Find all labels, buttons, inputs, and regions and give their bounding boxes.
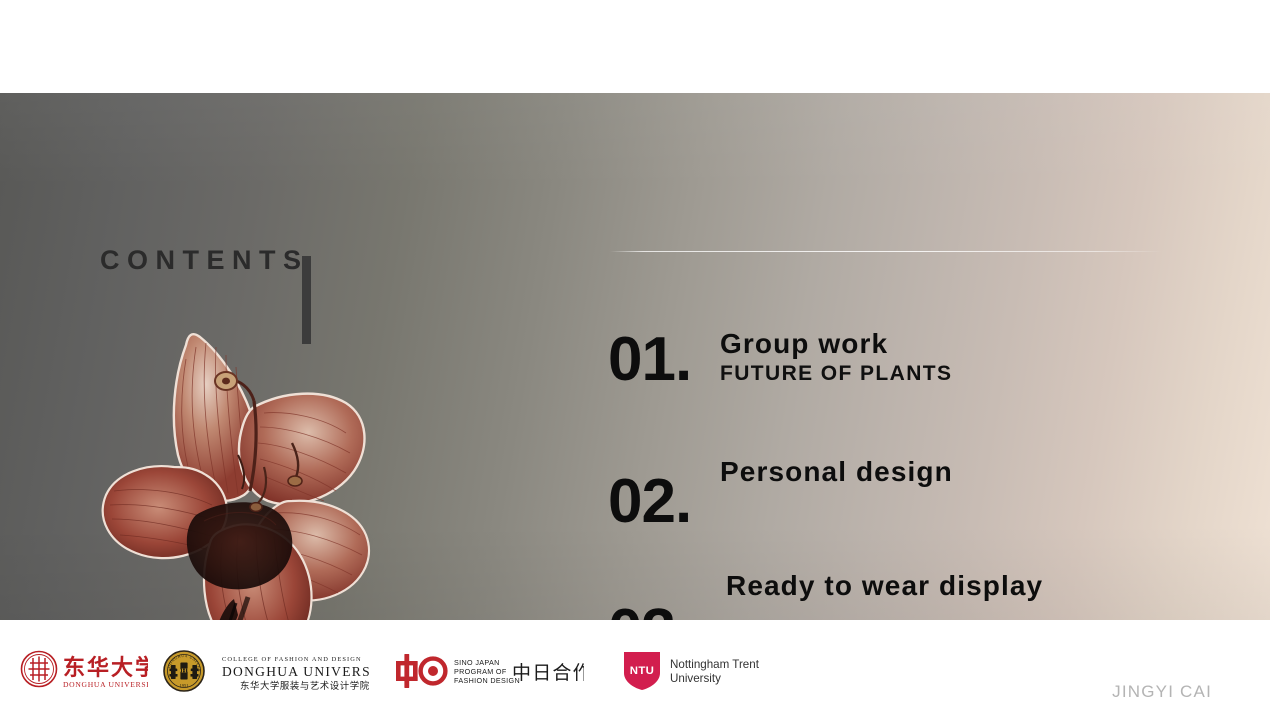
footer-logo-row: 东华大学 DONGHUA UNIVERSITY: [18, 648, 768, 694]
agenda-item-number: 03.: [608, 601, 691, 620]
svg-text:东华大学: 东华大学: [63, 655, 148, 680]
slide-footer: 东华大学 DONGHUA UNIVERSITY: [0, 620, 1270, 714]
svg-text:1951: 1951: [180, 683, 189, 688]
donghua-seal-logo: DHU 1951 DONGHUA UNIVERSITY: [162, 648, 206, 694]
author-credit: JINGYI CAI: [1112, 682, 1212, 702]
agenda-item-number: 02.: [608, 471, 691, 533]
slide-root: CONTENTS 01. Group work FUTURE OF PLANTS…: [0, 0, 1270, 714]
svg-text:COLLEGE OF FASHION AND DESIGN: COLLEGE OF FASHION AND DESIGN: [222, 656, 362, 663]
svg-text:东华大学服装与艺术设计学院: 东华大学服装与艺术设计学院: [240, 680, 370, 692]
svg-text:DHU: DHU: [177, 668, 192, 675]
agenda-item-title: Ready to wear display: [726, 571, 1043, 601]
svg-text:中日合作班: 中日合作班: [512, 662, 584, 684]
svg-text:NTU: NTU: [630, 665, 655, 677]
agenda-item-number: 01.: [608, 329, 691, 391]
svg-text:SINO JAPAN: SINO JAPAN: [454, 658, 500, 667]
agenda-item-text: Personal design: [720, 457, 953, 487]
agenda-item-subtitle: FUTURE OF PLANTS: [720, 362, 952, 387]
svg-text:University: University: [670, 672, 721, 685]
college-of-fashion-and-design-logo: COLLEGE OF FASHION AND DESIGN DONGHUA UN…: [218, 648, 370, 694]
agenda-item-title: Personal design: [720, 457, 953, 487]
donghua-university-logo: 东华大学 DONGHUA UNIVERSITY: [18, 648, 148, 694]
top-white-margin: [0, 0, 1270, 93]
agenda-list: 01. Group work FUTURE OF PLANTS 02. Pers…: [0, 93, 1270, 620]
svg-text:DONGHUA UNIVERSITY: DONGHUA UNIVERSITY: [63, 680, 148, 689]
svg-text:Nottingham Trent: Nottingham Trent: [670, 658, 760, 671]
svg-text:DONGHUA UNIVERSITY: DONGHUA UNIVERSITY: [222, 664, 370, 679]
svg-text:PROGRAM OF: PROGRAM OF: [454, 667, 507, 676]
agenda-item-text: Ready to wear display: [726, 571, 1043, 601]
slide-banner: CONTENTS 01. Group work FUTURE OF PLANTS…: [0, 93, 1270, 620]
agenda-item-title: Group work: [720, 329, 952, 359]
agenda-item-text: Group work FUTURE OF PLANTS: [720, 329, 952, 387]
nottingham-trent-university-logo: NTU Nottingham Trent University: [622, 648, 768, 694]
svg-text:FASHION DESIGN: FASHION DESIGN: [454, 676, 520, 685]
sino-japan-program-logo: SINO JAPAN PROGRAM OF FASHION DESIGN 中日合…: [384, 648, 584, 694]
